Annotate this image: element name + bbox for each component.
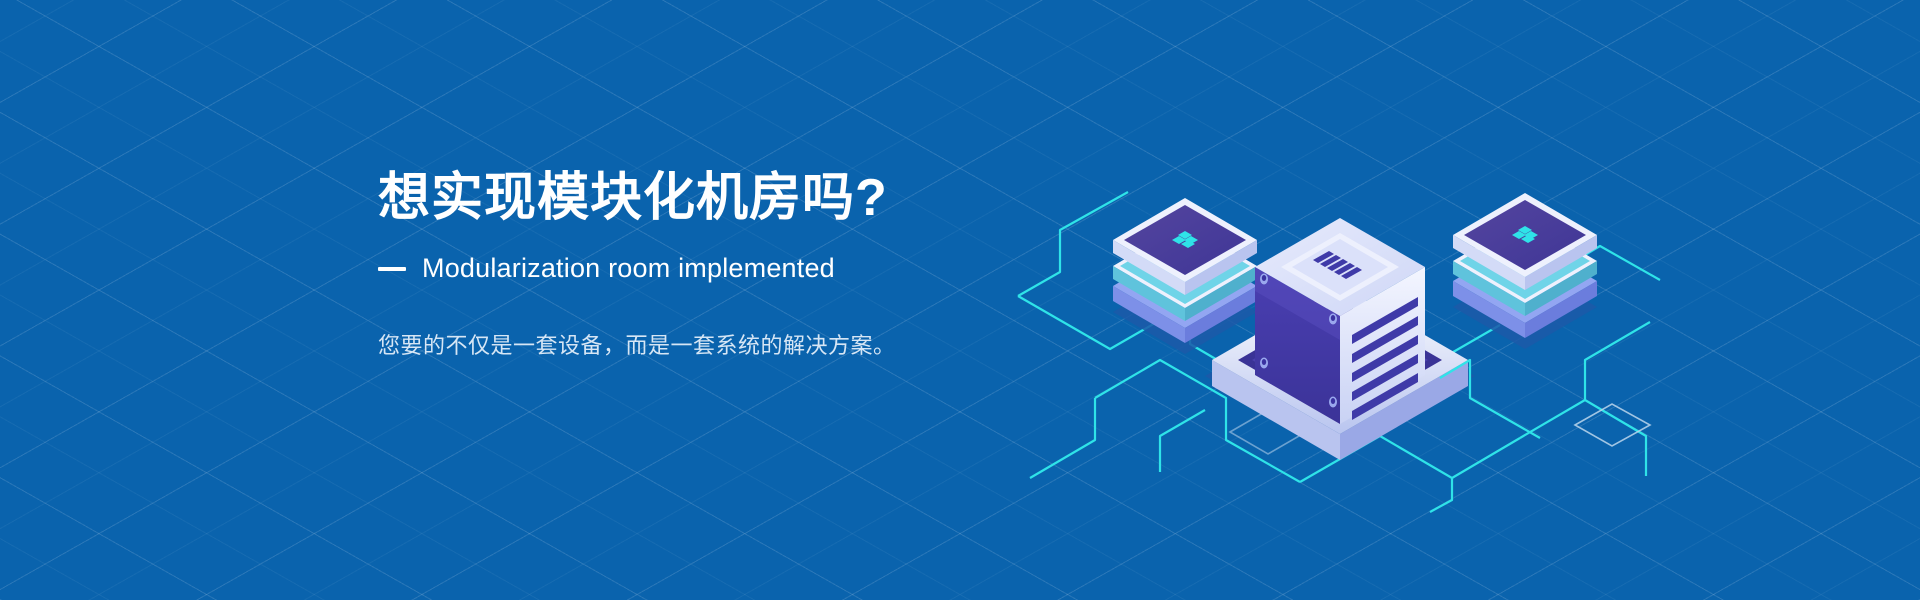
dash-accent-icon <box>378 267 406 271</box>
page-description: 您要的不仅是一套设备，而是一套系统的解决方案。 <box>378 328 1098 360</box>
hero-copy-block: 想实现模块化机房吗? Modularization room implement… <box>378 170 1098 360</box>
hero-banner: 想实现模块化机房吗? Modularization room implement… <box>0 0 1920 600</box>
page-title: 想实现模块化机房吗? <box>378 170 1098 227</box>
subtitle-row: Modularization room implemented <box>378 253 1098 284</box>
isometric-server-room-illustration <box>1000 80 1680 510</box>
outline-diamond-accent <box>1575 404 1650 446</box>
page-subtitle: Modularization room implemented <box>422 253 835 284</box>
chip-module-left <box>1113 198 1257 354</box>
chip-module-right <box>1453 193 1597 349</box>
